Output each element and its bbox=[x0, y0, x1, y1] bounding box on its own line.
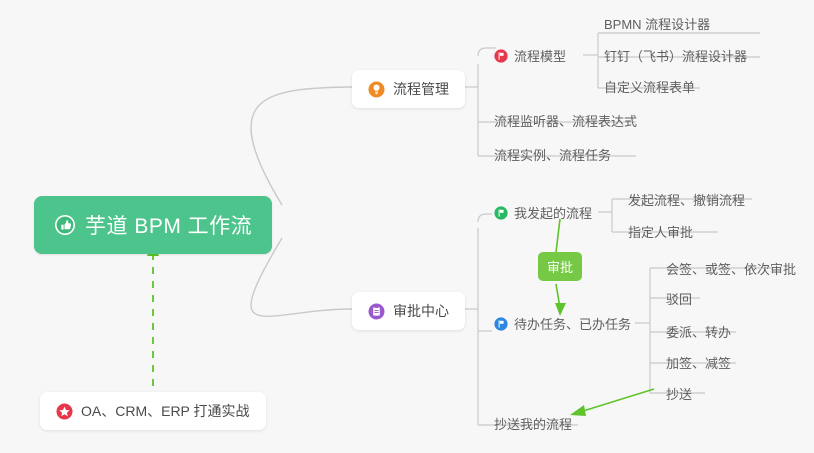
lightbulb-circle-icon bbox=[368, 81, 385, 98]
node-label: 钉钉（飞书）流程设计器 bbox=[604, 46, 747, 65]
node-add-remove-sign[interactable]: 加签、减签 bbox=[660, 350, 737, 376]
node-process-model[interactable]: 流程模型 bbox=[492, 43, 572, 69]
node-my-started-process[interactable]: 我发起的流程 bbox=[492, 200, 598, 226]
node-reject[interactable]: 驳回 bbox=[660, 286, 698, 312]
branch-label: 审批中心 bbox=[393, 301, 449, 321]
side-note-label: OA、CRM、ERP 打通实战 bbox=[81, 401, 250, 421]
mindmap-canvas: 芋道 BPM 工作流 OA、CRM、ERP 打通实战 流程管理 bbox=[0, 0, 814, 453]
node-cc-to-me-process[interactable]: 抄送我的流程 bbox=[488, 411, 578, 437]
node-label: 流程实例、流程任务 bbox=[494, 145, 611, 164]
node-label: 流程模型 bbox=[514, 46, 566, 65]
thumbs-up-circle-icon bbox=[54, 214, 76, 236]
node-dingtalk-feishu-designer[interactable]: 钉钉（飞书）流程设计器 bbox=[598, 43, 753, 69]
node-label: 委派、转办 bbox=[666, 322, 731, 341]
node-label: 抄送 bbox=[666, 384, 692, 403]
flag-circle-icon bbox=[494, 206, 508, 220]
flag-circle-icon bbox=[494, 49, 508, 63]
node-label: 我发起的流程 bbox=[514, 203, 592, 222]
approval-chip[interactable]: 审批 bbox=[538, 252, 582, 281]
star-circle-icon bbox=[56, 403, 73, 420]
node-label: 抄送我的流程 bbox=[494, 414, 572, 433]
node-countersign[interactable]: 会签、或签、依次审批 bbox=[660, 256, 802, 282]
node-label: 加签、减签 bbox=[666, 353, 731, 372]
node-label: 自定义流程表单 bbox=[604, 77, 695, 96]
node-todo-done-tasks[interactable]: 待办任务、已办任务 bbox=[492, 311, 637, 337]
node-listener-expression[interactable]: 流程监听器、流程表达式 bbox=[488, 108, 643, 134]
branch-approval-center[interactable]: 审批中心 bbox=[352, 292, 465, 330]
node-assignee-approval[interactable]: 指定人审批 bbox=[622, 219, 699, 245]
node-label: BPMN 流程设计器 bbox=[604, 14, 710, 33]
node-bpmn-designer[interactable]: BPMN 流程设计器 bbox=[598, 11, 716, 37]
root-label: 芋道 BPM 工作流 bbox=[85, 210, 252, 240]
branch-label: 流程管理 bbox=[393, 79, 449, 99]
node-label: 待办任务、已办任务 bbox=[514, 314, 631, 333]
node-carbon-copy[interactable]: 抄送 bbox=[660, 381, 698, 407]
approval-chip-label: 审批 bbox=[547, 257, 573, 276]
flag-circle-icon bbox=[494, 317, 508, 331]
clipboard-circle-icon bbox=[368, 303, 385, 320]
branch-process-management[interactable]: 流程管理 bbox=[352, 70, 465, 108]
node-label: 流程监听器、流程表达式 bbox=[494, 111, 637, 130]
side-note-node[interactable]: OA、CRM、ERP 打通实战 bbox=[40, 392, 266, 430]
node-label: 会签、或签、依次审批 bbox=[666, 259, 796, 278]
node-start-cancel-process[interactable]: 发起流程、撤销流程 bbox=[622, 187, 751, 213]
node-custom-process-form[interactable]: 自定义流程表单 bbox=[598, 74, 701, 100]
node-label: 指定人审批 bbox=[628, 222, 693, 241]
node-instance-task[interactable]: 流程实例、流程任务 bbox=[488, 142, 617, 168]
node-label: 驳回 bbox=[666, 289, 692, 308]
root-node[interactable]: 芋道 BPM 工作流 bbox=[34, 196, 272, 254]
node-label: 发起流程、撤销流程 bbox=[628, 190, 745, 209]
node-delegate-transfer[interactable]: 委派、转办 bbox=[660, 319, 737, 345]
